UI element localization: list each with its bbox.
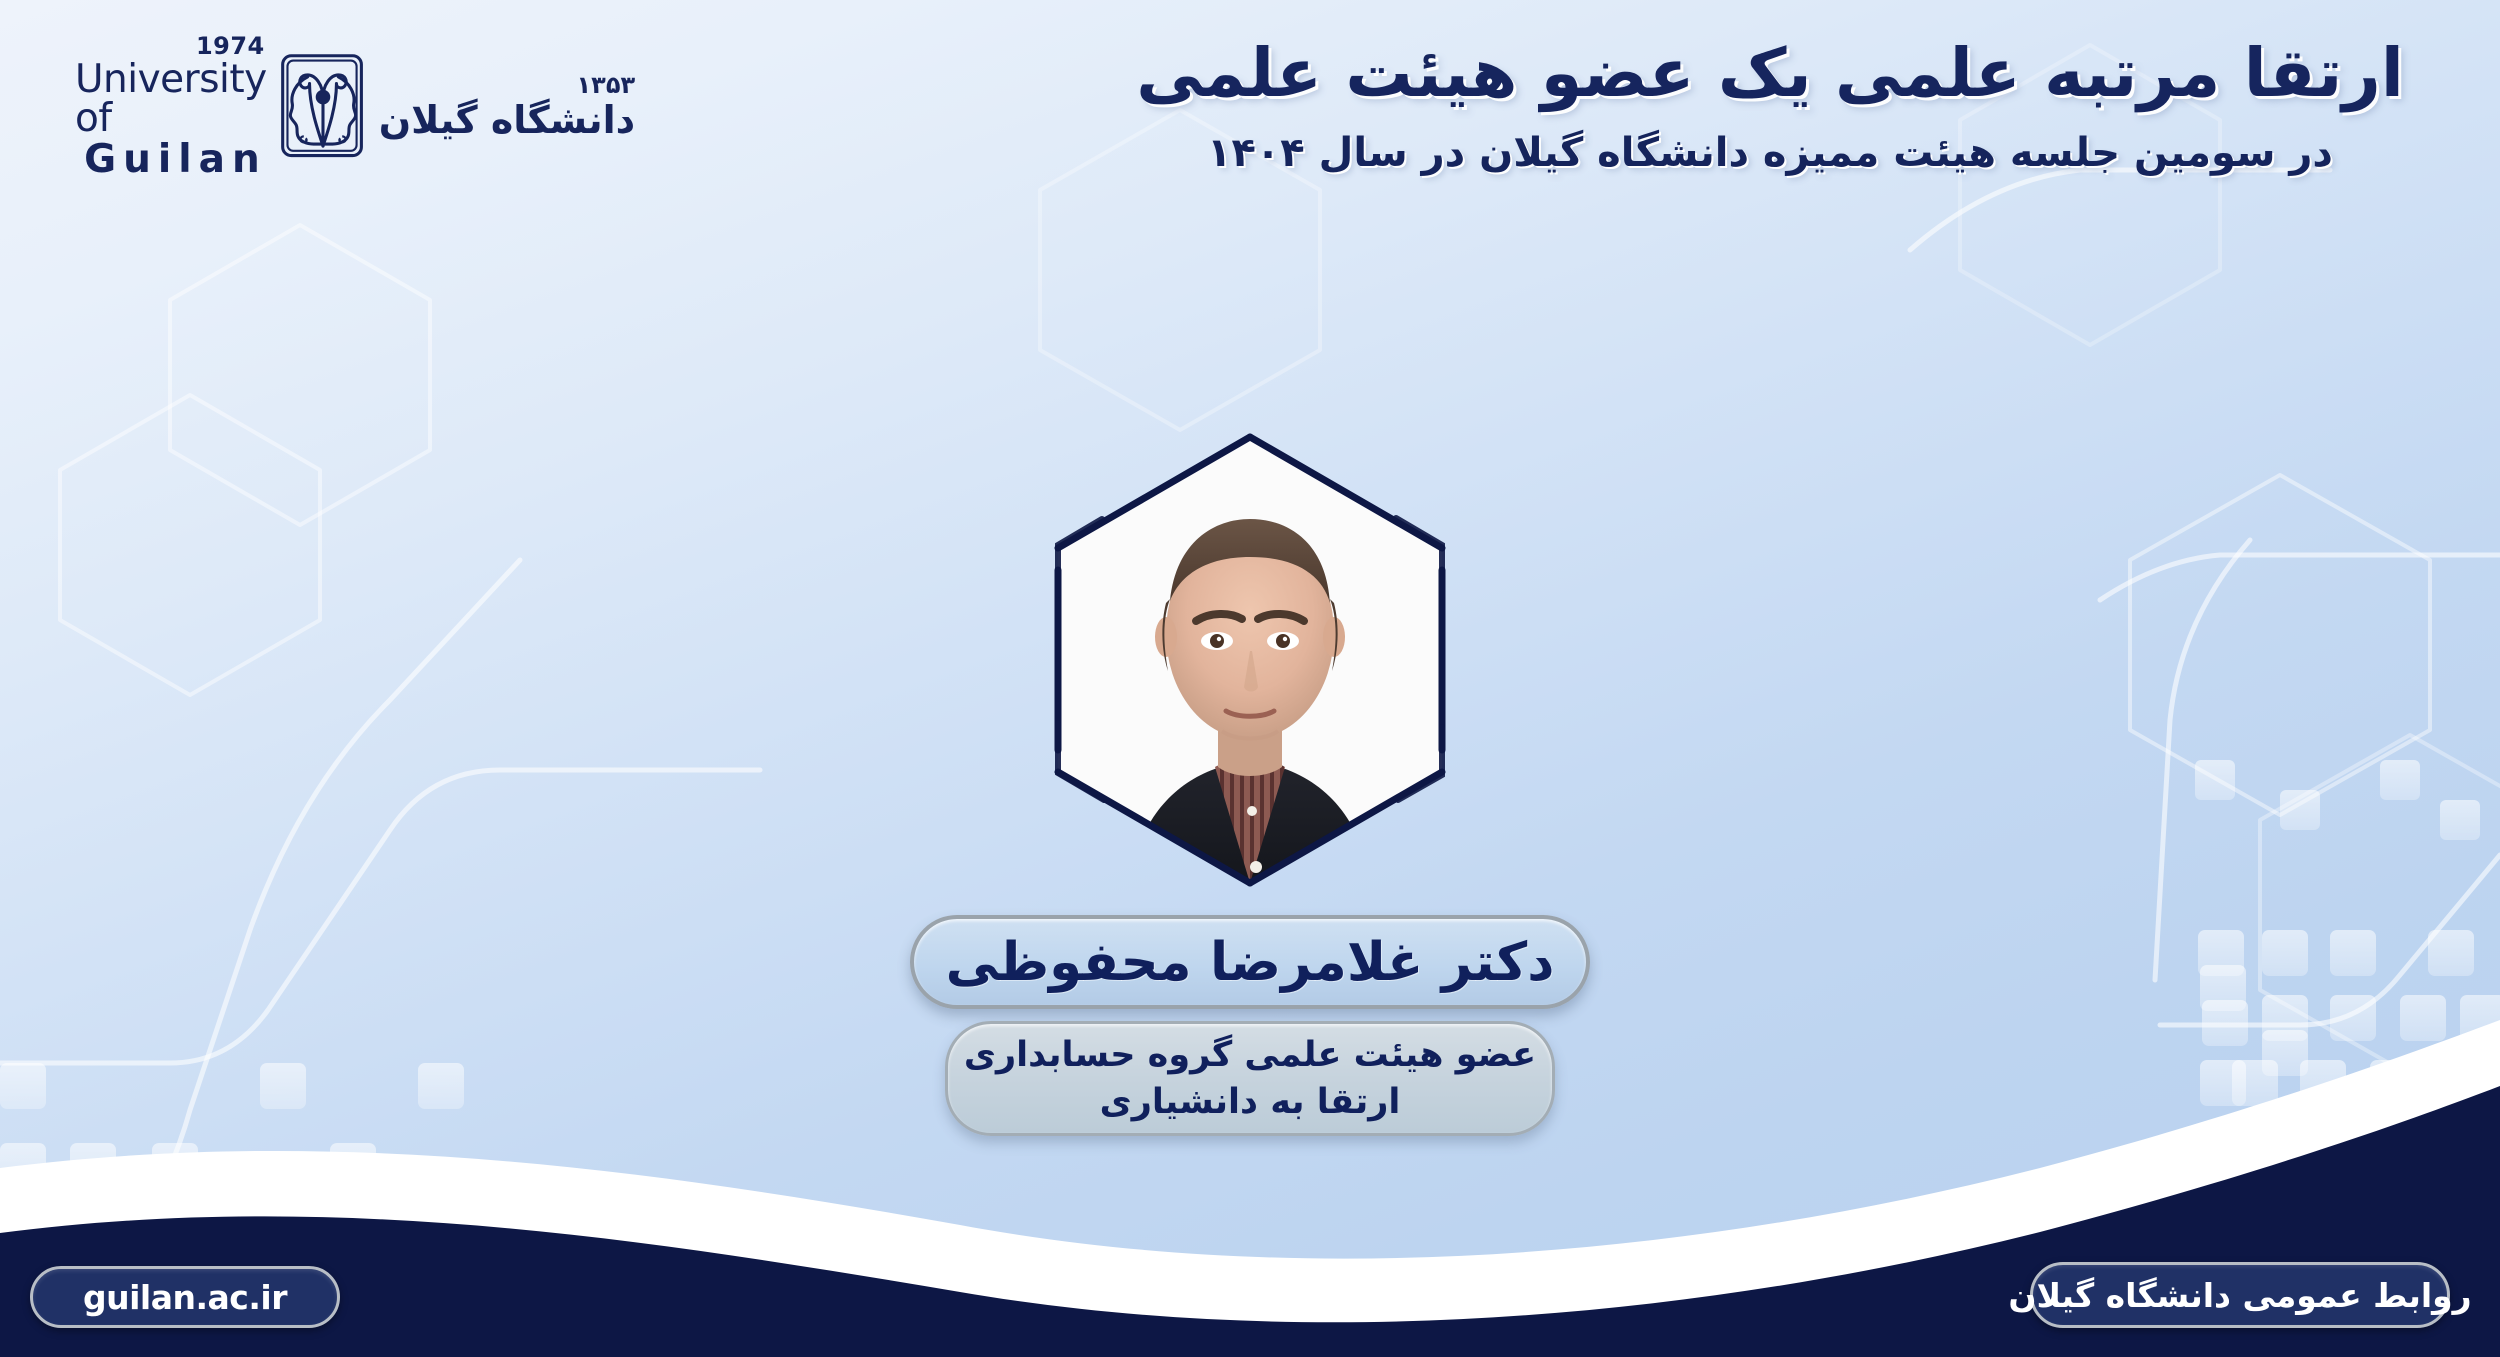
person-name: دکتر غلامرضا محفوظی [946, 932, 1555, 993]
person-role-badge: عضو هیئت علمی گروه حسابداری ارتقا به دان… [945, 1021, 1555, 1136]
person-role-line-1: عضو هیئت علمی گروه حسابداری [964, 1032, 1536, 1079]
person-role-line-2: ارتقا به دانشیاری [1100, 1079, 1401, 1126]
portrait-photo [1058, 437, 1442, 883]
public-relations-text: روابط عمومی دانشگاه گیلان [2008, 1276, 2471, 1315]
header-text-block: ارتقا مرتبه علمی یک عضو هیئت علمی در سوم… [1100, 34, 2440, 179]
website-url-pill[interactable]: guilan.ac.ir [30, 1266, 340, 1328]
logo-year-fa: ۱۳۵۳ [577, 73, 636, 97]
page-subtitle: در سومین جلسه هیئت ممیزه دانشگاه گیلان د… [1100, 127, 2440, 179]
guilan-butterfly-emblem-icon [275, 50, 371, 162]
logo-university-of: University of [75, 60, 267, 138]
faculty-member-portrait [1010, 415, 1490, 905]
person-info-block: دکتر غلامرضا محفوظی عضو هیئت علمی گروه ح… [910, 915, 1590, 1136]
page-title: ارتقا مرتبه علمی یک عضو هیئت علمی [1100, 34, 2440, 113]
logo-university-name-fa: دانشگاه گیلان [379, 101, 635, 139]
logo-year-en: 1974 [196, 34, 265, 58]
promotion-announcement-poster: 1974 University of Guilan ۱۳۵ [0, 0, 2500, 1357]
logo-persian-text: ۱۳۵۳ دانشگاه گیلان [379, 73, 635, 139]
square-grid-decoration-right [2195, 760, 2500, 1106]
university-logo: 1974 University of Guilan ۱۳۵ [75, 36, 545, 176]
logo-english-text: 1974 University of Guilan [75, 34, 267, 179]
person-name-badge: دکتر غلامرضا محفوظی [910, 915, 1590, 1009]
public-relations-pill: روابط عمومی دانشگاه گیلان [2030, 1262, 2450, 1328]
website-url-text: guilan.ac.ir [83, 1278, 287, 1317]
logo-guilan: Guilan [84, 140, 267, 179]
